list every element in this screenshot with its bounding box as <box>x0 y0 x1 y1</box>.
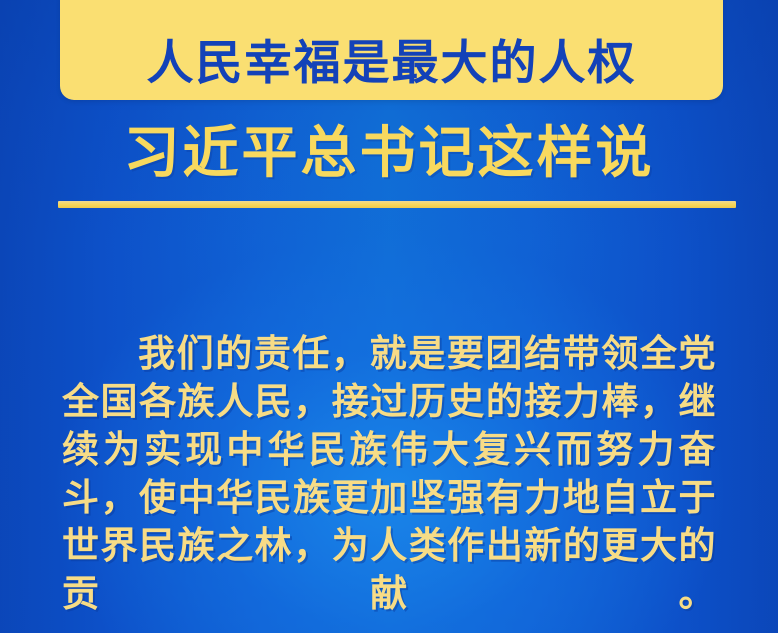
poster-canvas: 人民幸福是最大的人权 习近平总书记这样说 我们的责任，就是要团结带领全党全国各族… <box>0 0 778 633</box>
divider-rule <box>58 201 736 208</box>
headline-banner: 人民幸福是最大的人权 <box>60 0 723 100</box>
headline-text: 人民幸福是最大的人权 <box>60 36 723 92</box>
body-paragraph: 我们的责任，就是要团结带领全党全国各族人民，接过历史的接力棒，继续为实现中华民族… <box>62 330 716 633</box>
subtitle-text: 习近平总书记这样说 <box>0 114 778 194</box>
